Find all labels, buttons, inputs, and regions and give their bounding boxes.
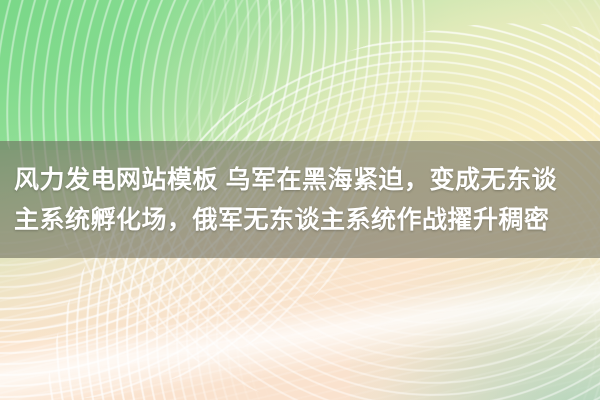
- teal-gradient-wash: [350, 250, 600, 400]
- caption-line-2: 主系统孵化场，俄军无东谈主系统作战擢升稠密: [14, 200, 550, 240]
- caption-overlay-band: 风力发电网站模板 乌军在黑海紧迫，变成无东谈 主系统孵化场，俄军无东谈主系统作战…: [0, 141, 600, 258]
- caption-line-1: 风力发电网站模板 乌军在黑海紧迫，变成无东谈: [14, 160, 557, 200]
- banner-image: 风力发电网站模板 乌军在黑海紧迫，变成无东谈 主系统孵化场，俄军无东谈主系统作战…: [0, 0, 600, 400]
